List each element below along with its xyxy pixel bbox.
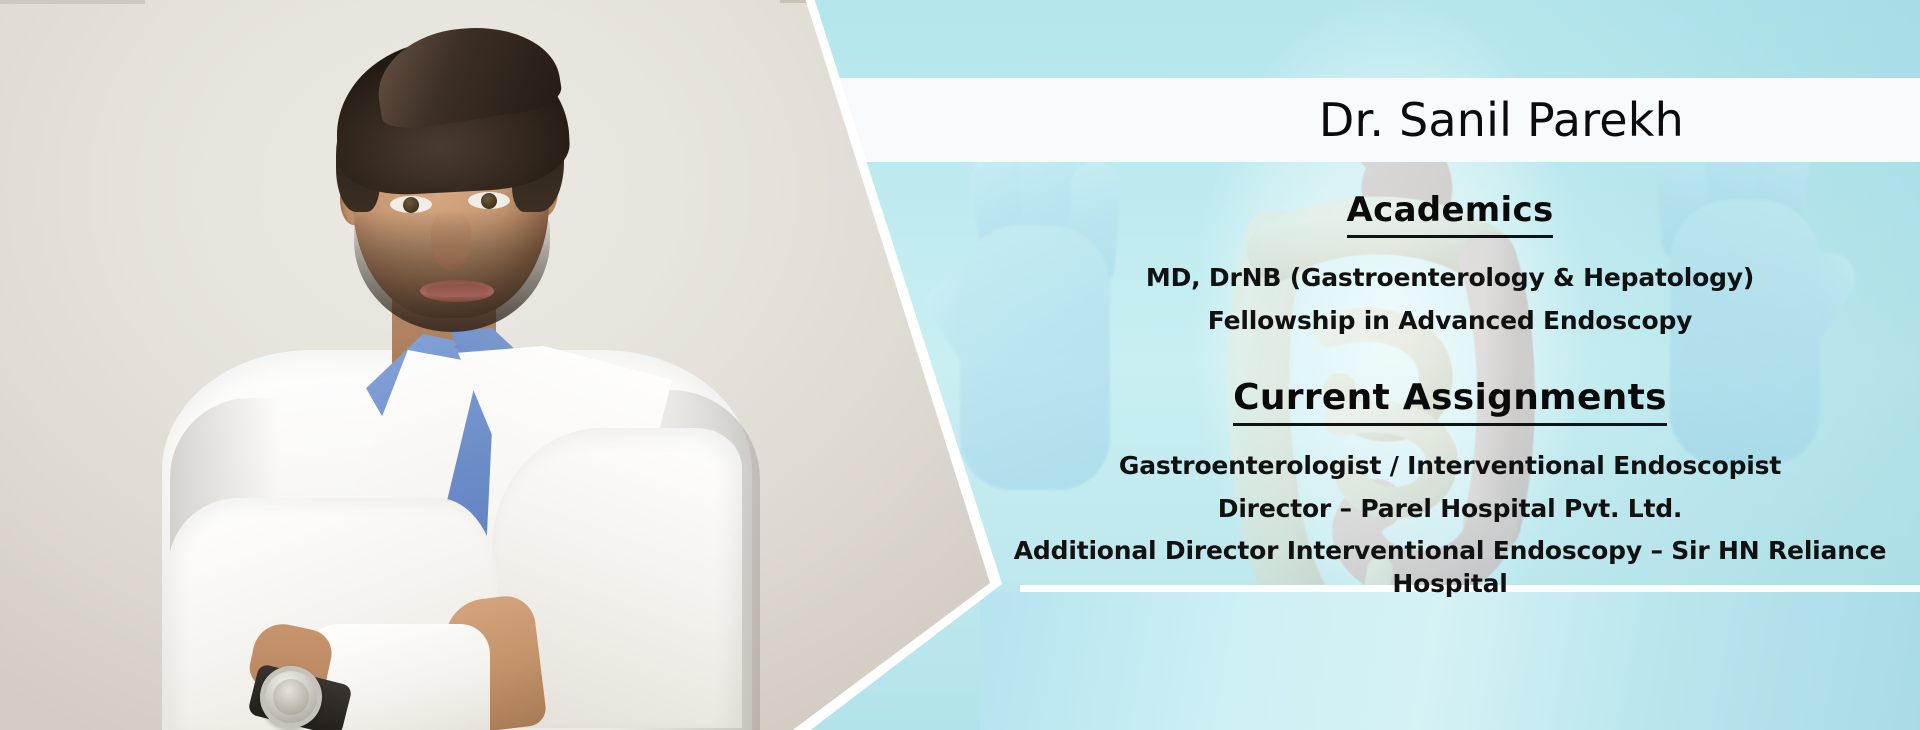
doctor-figure <box>140 0 760 730</box>
backdrop-top-strip <box>0 0 145 4</box>
assignment-line-3: Additional Director Interventional Endos… <box>1010 535 1890 600</box>
assignment-line-1: Gastroenterologist / Interventional Endo… <box>1010 450 1890 483</box>
page-title: Dr. Sanil Parekh <box>1319 78 1684 162</box>
doctor-profile-banner: Dr. Sanil Parekh <box>0 0 1920 730</box>
academics-line-1: MD, DrNB (Gastroenterology & Hepatology) <box>1010 262 1890 295</box>
assignment-line-2: Director – Parel Hospital Pvt. Ltd. <box>1010 493 1890 526</box>
section-spacer <box>1010 347 1890 377</box>
current-assignments-section: Current Assignments Gastroenterologist /… <box>1010 377 1890 600</box>
current-assignments-heading: Current Assignments <box>1233 377 1667 426</box>
academics-line-2: Fellowship in Advanced Endoscopy <box>1010 305 1890 338</box>
credentials-content: Academics MD, DrNB (Gastroenterology & H… <box>1010 190 1890 610</box>
academics-heading: Academics <box>1347 190 1554 238</box>
academics-section: Academics MD, DrNB (Gastroenterology & H… <box>1010 190 1890 337</box>
bottom-panel <box>980 592 1920 730</box>
